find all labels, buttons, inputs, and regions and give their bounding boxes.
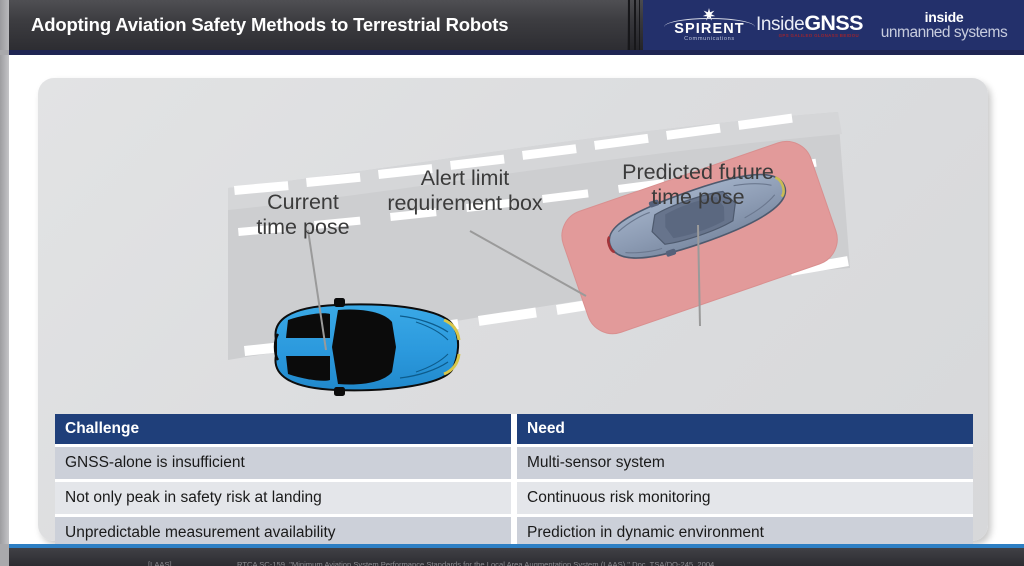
road-diagram xyxy=(38,78,988,398)
current-time-car xyxy=(275,298,459,396)
slide-header: Adopting Aviation Safety Methods to Terr… xyxy=(0,0,1024,50)
footer-top-rule xyxy=(0,544,1024,548)
table-header-challenge: Challenge xyxy=(55,414,511,444)
footnote-text: RTCA SC-159, "Minimum Aviation System Pe… xyxy=(237,560,716,566)
header-left-edge xyxy=(0,0,9,50)
road-scene-illustration: Current time pose Alert limit requiremen… xyxy=(38,78,988,398)
label-predicted-future-pose: Predicted future time pose xyxy=(583,160,813,211)
footnote: [LAAS] RTCA SC-159, "Minimum Aviation Sy… xyxy=(0,560,1024,566)
title-divider xyxy=(639,0,640,50)
content-panel: Current time pose Alert limit requiremen… xyxy=(38,78,988,541)
page-title: Adopting Aviation Safety Methods to Terr… xyxy=(9,14,508,36)
spirent-logo: SPIRENT Communications xyxy=(662,8,757,44)
table-header-need: Need xyxy=(517,414,973,444)
label-current-time-pose: Current time pose xyxy=(238,190,368,241)
inside-gnss-wordmark: InsideGNSS xyxy=(756,13,860,35)
challenge-need-table: Challenge Need GNSS-alone is insufficien… xyxy=(55,414,973,532)
table-row[interactable]: Not only peak in safety risk at landing … xyxy=(55,482,973,514)
table-row[interactable]: GNSS-alone is insufficient Multi-sensor … xyxy=(55,447,973,479)
cell-need: Continuous risk monitoring xyxy=(517,482,973,514)
spirent-wordmark: SPIRENT xyxy=(662,21,757,37)
inside-unmanned-bottom-text: unmanned systems xyxy=(869,25,1019,41)
inside-gnss-logo: InsideGNSS GPS GALILEO GLONASS BEIDOU xyxy=(756,13,860,41)
table-header-row: Challenge Need xyxy=(55,414,973,444)
label-alert-limit-box: Alert limit requirement box xyxy=(360,166,570,217)
cell-need: Multi-sensor system xyxy=(517,447,973,479)
title-divider xyxy=(628,0,630,50)
title-divider xyxy=(634,0,636,50)
logo-band: SPIRENT Communications InsideGNSS GPS GA… xyxy=(643,0,1024,50)
inside-gnss-light-text: Inside xyxy=(756,14,804,35)
footnote-key: [LAAS] xyxy=(148,560,172,566)
inside-unmanned-top-text: inside xyxy=(871,10,1017,25)
slide-body: Current time pose Alert limit requiremen… xyxy=(0,55,1024,544)
page-left-edge xyxy=(0,55,9,544)
title-plate: Adopting Aviation Safety Methods to Terr… xyxy=(9,0,627,50)
inside-unmanned-systems-logo: inside unmanned systems xyxy=(871,10,1017,42)
inside-gnss-bold-text: GNSS xyxy=(804,11,863,35)
cell-challenge: GNSS-alone is insufficient xyxy=(55,447,511,479)
cell-challenge: Not only peak in safety risk at landing xyxy=(55,482,511,514)
inside-gnss-tagline: GPS GALILEO GLONASS BEIDOU xyxy=(779,33,859,38)
spirent-tagline: Communications xyxy=(662,36,757,42)
